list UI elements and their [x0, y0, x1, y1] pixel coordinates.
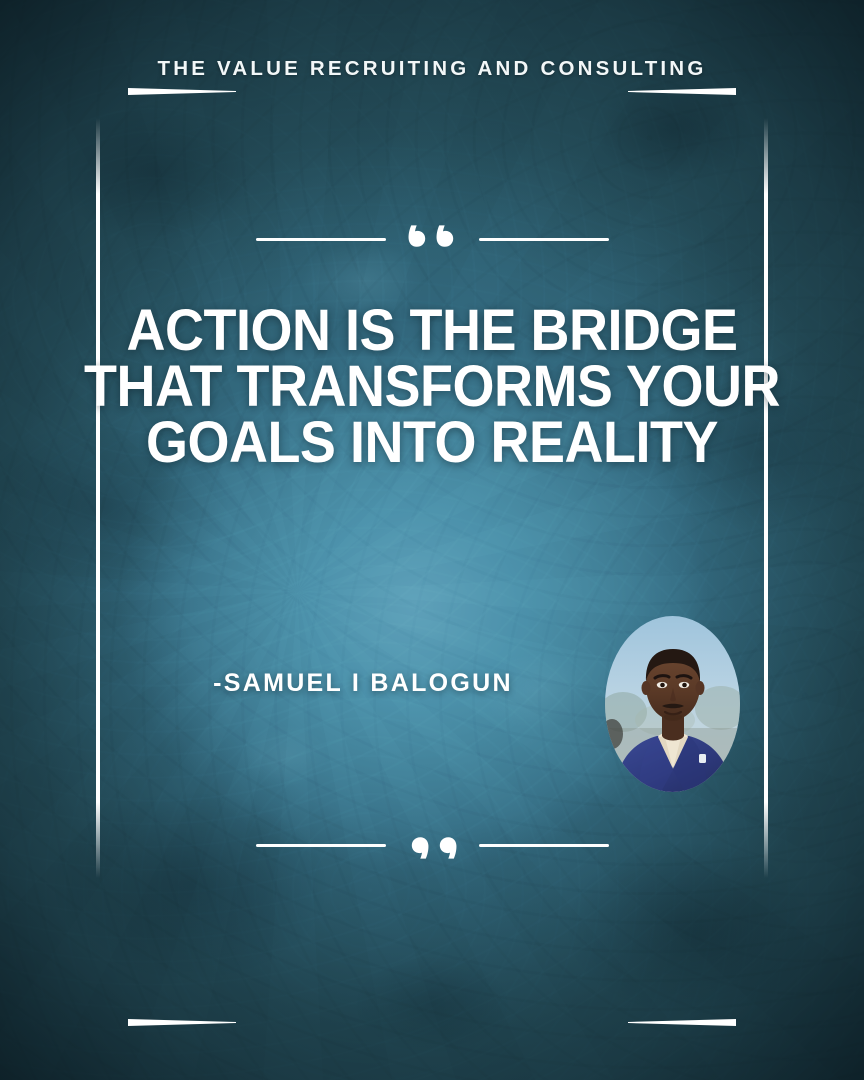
background-vignette — [0, 0, 864, 1080]
author-name: -SAMUEL I BALOGUN — [148, 669, 578, 698]
quote-poster: THE VALUE RECRUITING AND CONSULTING ACTI… — [0, 0, 864, 1080]
ornament-bottom — [0, 830, 864, 860]
quote-line-2: THAT TRANSFORMS YOUR — [30, 359, 834, 415]
quote-line-1: ACTION IS THE BRIDGE — [30, 303, 834, 359]
ornament-rule-left — [256, 844, 386, 847]
ornament-rule-right — [479, 238, 609, 241]
ornament-rule-left — [256, 238, 386, 241]
open-quote-mark-icon — [408, 224, 457, 254]
quote-text: ACTION IS THE BRIDGE THAT TRANSFORMS YOU… — [30, 303, 834, 471]
ornament-top — [0, 224, 864, 254]
ornament-rule-right — [479, 844, 609, 847]
brand-title: THE VALUE RECRUITING AND CONSULTING — [0, 57, 864, 81]
quote-line-3: GOALS INTO REALITY — [30, 415, 834, 471]
author-avatar — [605, 616, 740, 792]
close-quote-mark-icon — [408, 830, 457, 860]
